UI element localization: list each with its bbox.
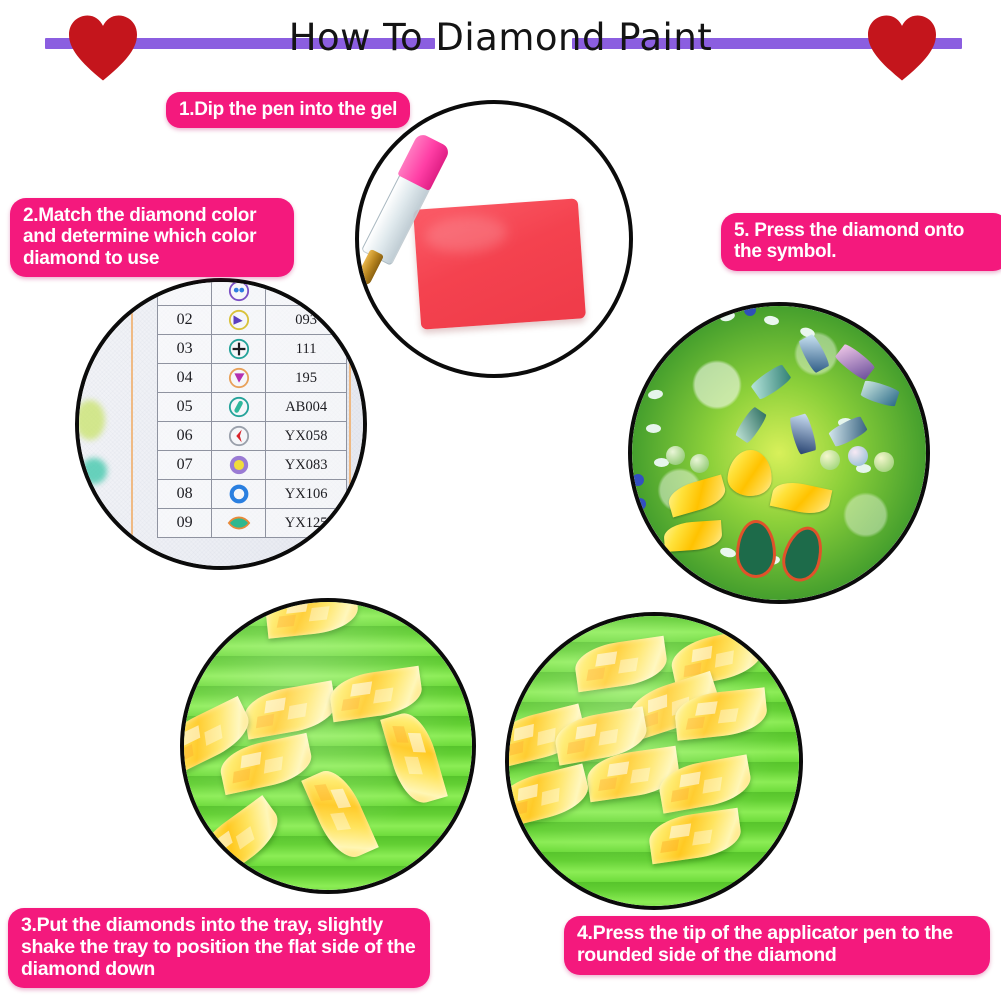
paint-blob bbox=[93, 520, 115, 540]
row-symbol bbox=[212, 480, 266, 509]
diamond-gem bbox=[788, 413, 818, 455]
diamond-gem bbox=[734, 406, 768, 444]
row-symbol bbox=[212, 282, 266, 306]
round-gem bbox=[848, 446, 868, 466]
row-number: 04 bbox=[158, 364, 212, 393]
yellow-diamond bbox=[216, 733, 315, 795]
yellow-diamond bbox=[327, 666, 424, 722]
diamond-gem bbox=[860, 379, 900, 408]
yellow-diamond bbox=[622, 671, 723, 741]
yellow-diamond bbox=[184, 696, 257, 776]
color-symbol-chart: 028 02 093 03 bbox=[157, 282, 347, 538]
ring-icon bbox=[212, 481, 265, 507]
step-2-photo: 028 02 093 03 bbox=[75, 278, 367, 570]
double-dot-icon bbox=[212, 282, 265, 304]
chart-body: 028 02 093 03 bbox=[158, 282, 347, 538]
step-3-photo bbox=[180, 598, 476, 894]
row-number: 02 bbox=[158, 306, 212, 335]
table-row: 04 195 bbox=[158, 364, 347, 393]
diamond-gem bbox=[750, 363, 793, 401]
row-symbol bbox=[212, 306, 266, 335]
symbol-cell bbox=[683, 316, 701, 330]
row-number: 06 bbox=[158, 422, 212, 451]
diamond-gem bbox=[834, 342, 876, 381]
pen-barrel bbox=[509, 616, 549, 714]
step-1-photo bbox=[355, 100, 633, 378]
yellow-diamond bbox=[665, 475, 728, 518]
yellow-diamond bbox=[380, 708, 448, 809]
step-3-label: 3.Put the diamonds into the tray, slight… bbox=[8, 908, 430, 988]
diamond-tray bbox=[184, 602, 472, 890]
leaf-icon bbox=[212, 510, 265, 536]
row-code: YX058 bbox=[266, 422, 347, 451]
table-row: 02 093 bbox=[158, 306, 347, 335]
paint-blob bbox=[81, 458, 107, 484]
table-row: 09 YX125 bbox=[158, 509, 347, 538]
row-symbol bbox=[212, 451, 266, 480]
page-title: How To Diamond Paint bbox=[0, 16, 1001, 59]
row-number: 05 bbox=[158, 393, 212, 422]
table-row: 03 111 bbox=[158, 335, 347, 364]
row-number: 03 bbox=[158, 335, 212, 364]
row-code: 195 bbox=[266, 364, 347, 393]
round-gem bbox=[666, 446, 685, 465]
row-number: 08 bbox=[158, 480, 212, 509]
step-5-photo bbox=[628, 302, 930, 604]
row-number bbox=[158, 282, 212, 306]
table-row: 07 YX083 bbox=[158, 451, 347, 480]
gel-square bbox=[413, 198, 586, 329]
chart-guide-line bbox=[349, 282, 351, 566]
step-4-label: 4.Press the tip of the applicator pen to… bbox=[564, 916, 990, 975]
painted-dot bbox=[708, 308, 719, 319]
table-row: 05 AB004 bbox=[158, 393, 347, 422]
triangle-quarter-icon bbox=[212, 307, 265, 333]
step-4-photo bbox=[505, 612, 803, 910]
table-row: 028 bbox=[158, 282, 347, 306]
symbol-leaf bbox=[736, 520, 776, 578]
step-5-label: 5. Press the diamond onto the symbol. bbox=[721, 213, 1001, 271]
painted-dot bbox=[744, 306, 756, 316]
painted-dot bbox=[632, 474, 644, 486]
yellow-diamond bbox=[509, 764, 593, 829]
filled-circle-icon bbox=[212, 452, 265, 478]
row-code: YX106 bbox=[266, 480, 347, 509]
table-row: 08 YX106 bbox=[158, 480, 347, 509]
yellow-diamond bbox=[663, 520, 723, 552]
row-code: 028 bbox=[266, 282, 347, 306]
row-symbol bbox=[212, 509, 266, 538]
diamond-painting-canvas bbox=[632, 306, 926, 600]
round-gem bbox=[820, 450, 840, 470]
row-symbol bbox=[212, 364, 266, 393]
row-code: AB004 bbox=[266, 393, 347, 422]
yellow-diamond bbox=[264, 602, 360, 639]
yellow-diamond bbox=[301, 763, 379, 865]
infographic-page: How To Diamond Paint 1.Dip the pen into … bbox=[0, 0, 1001, 1001]
arrow-left-icon bbox=[212, 423, 265, 449]
yellow-diamond bbox=[673, 687, 769, 740]
row-number: 07 bbox=[158, 451, 212, 480]
yellow-diamond bbox=[656, 754, 754, 813]
diamond-tray bbox=[509, 616, 799, 906]
yellow-diamond bbox=[646, 808, 743, 864]
step-1-label: 1.Dip the pen into the gel bbox=[166, 92, 410, 128]
row-code: 093 bbox=[266, 306, 347, 335]
symbol-cell bbox=[763, 315, 779, 326]
step-2-label: 2.Match the diamond color and determine … bbox=[10, 198, 294, 277]
yellow-diamond-targeted bbox=[584, 746, 681, 802]
symbol-cell bbox=[719, 546, 737, 559]
yellow-diamond bbox=[770, 478, 833, 517]
slanted-capsule-icon bbox=[212, 394, 265, 420]
painted-dot bbox=[634, 498, 646, 510]
paint-blob bbox=[79, 400, 105, 440]
row-number: 09 bbox=[158, 509, 212, 538]
row-symbol bbox=[212, 422, 266, 451]
yellow-diamond bbox=[572, 636, 669, 692]
yellow-diamond bbox=[552, 706, 650, 765]
symbol-cell bbox=[647, 389, 663, 400]
page-header: How To Diamond Paint bbox=[0, 0, 1001, 80]
row-code: 111 bbox=[266, 335, 347, 364]
row-code: YX083 bbox=[266, 451, 347, 480]
yellow-diamond bbox=[667, 627, 766, 689]
row-symbol bbox=[212, 393, 266, 422]
pen-tip bbox=[359, 249, 384, 286]
round-gem bbox=[874, 452, 894, 472]
yellow-diamond bbox=[509, 704, 589, 769]
symbol-cell bbox=[646, 424, 661, 433]
round-gem bbox=[690, 454, 709, 473]
diamond-gem bbox=[797, 333, 831, 374]
triangle-magenta-icon bbox=[212, 365, 265, 391]
yellow-diamond bbox=[188, 795, 288, 885]
diamond-gem bbox=[828, 415, 869, 449]
yellow-diamond bbox=[241, 680, 339, 739]
symbol-cell bbox=[719, 310, 736, 322]
symbol-leaf bbox=[777, 522, 829, 586]
row-symbol bbox=[212, 335, 266, 364]
plus-cross-icon bbox=[212, 336, 265, 362]
chart-guide-line bbox=[131, 282, 133, 566]
table-row: 06 YX058 bbox=[158, 422, 347, 451]
yellow-diamond-placed bbox=[726, 449, 773, 498]
row-code: YX125 bbox=[266, 509, 347, 538]
